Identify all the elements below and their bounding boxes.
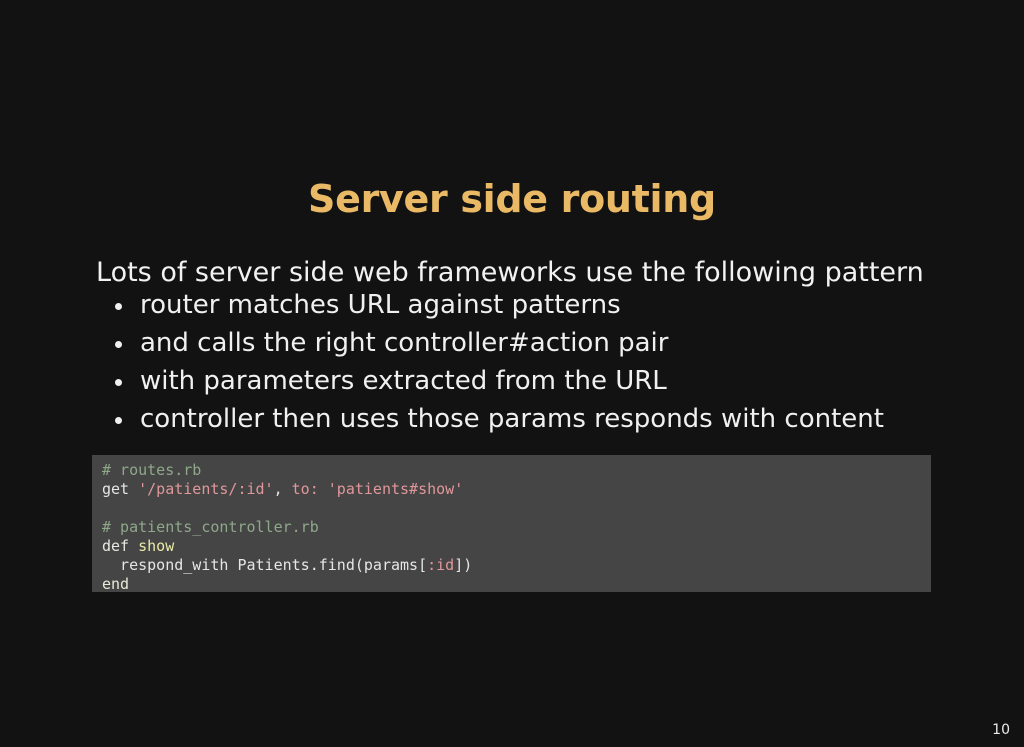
page-title: Server side routing xyxy=(0,177,1024,222)
list-item-label: and calls the right controller#action pa… xyxy=(140,328,668,358)
code-line: # routes.rb xyxy=(102,461,921,480)
list-item: router matches URL against patterns xyxy=(96,286,956,324)
code-line: get '/patients/:id', to: 'patients#show' xyxy=(102,480,921,499)
list-item: controller then uses those params respon… xyxy=(96,400,956,438)
list-item-label: router matches URL against patterns xyxy=(140,290,621,320)
code-token-plain: get xyxy=(102,480,138,498)
bullet-dot-icon xyxy=(115,341,122,348)
code-token-plain: , xyxy=(274,480,292,498)
intro-paragraph: Lots of server side web frameworks use t… xyxy=(96,255,936,290)
page-number: 10 xyxy=(992,722,1010,738)
slide-canvas: Server side routing Lots of server side … xyxy=(0,0,1024,747)
list-item: and calls the right controller#action pa… xyxy=(96,324,956,362)
code-token-keyword: def xyxy=(102,537,138,555)
bullet-list: router matches URL against patterns and … xyxy=(96,286,956,438)
bullet-dot-icon xyxy=(115,417,122,424)
bullet-dot-icon xyxy=(115,379,122,386)
code-token-plain xyxy=(319,480,328,498)
code-block: # routes.rb get '/patients/:id', to: 'pa… xyxy=(92,455,931,592)
code-token-comment: # routes.rb xyxy=(102,461,201,479)
code-token-comment: # patients_controller.rb xyxy=(102,518,319,536)
code-token-method: show xyxy=(138,537,174,555)
code-line: respond_with Patients.find(params[:id]) xyxy=(102,556,921,575)
code-token-string: '/patients/:id' xyxy=(138,480,273,498)
code-token-string: 'patients#show' xyxy=(328,480,463,498)
code-line: # patients_controller.rb xyxy=(102,518,921,537)
list-item-label: controller then uses those params respon… xyxy=(140,404,884,434)
list-item: with parameters extracted from the URL xyxy=(96,362,956,400)
code-content: # routes.rb get '/patients/:id', to: 'pa… xyxy=(92,461,931,592)
bullet-dot-icon xyxy=(115,303,122,310)
code-line: def show xyxy=(102,537,921,556)
code-token-symbol: :id xyxy=(427,556,454,574)
code-line xyxy=(102,499,921,518)
list-item-label: with parameters extracted from the URL xyxy=(140,366,667,396)
code-token-plain: respond_with Patients.find(params[ xyxy=(102,556,427,574)
code-token-end: end xyxy=(102,575,129,592)
code-token-plain: ]) xyxy=(454,556,472,574)
code-token-symbol: to: xyxy=(292,480,319,498)
code-line: end xyxy=(102,575,921,592)
